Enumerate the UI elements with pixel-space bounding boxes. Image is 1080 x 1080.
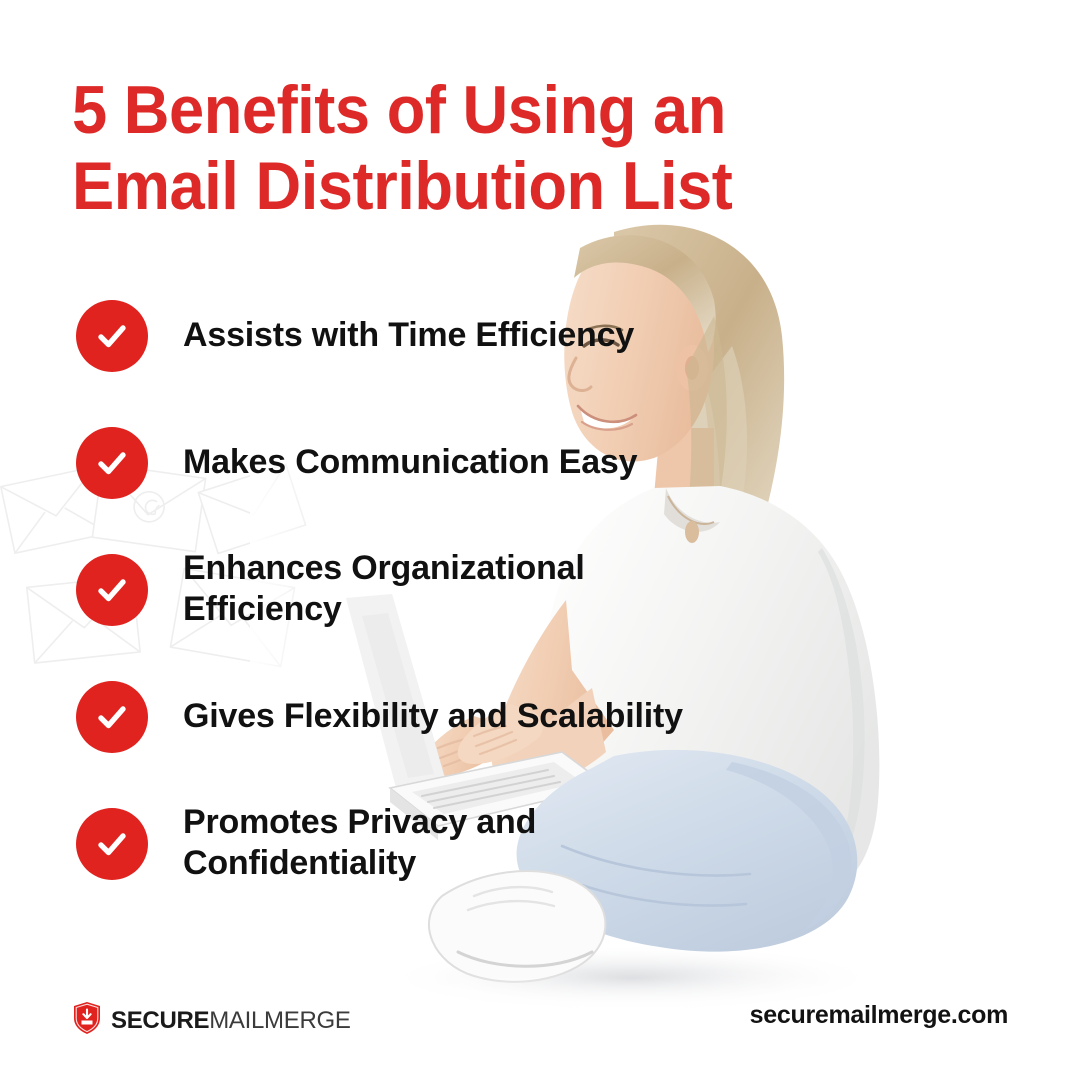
check-circle-icon (76, 808, 148, 880)
promo-graphic: 5 Benefits of Using an Email Distributio… (0, 0, 1080, 1080)
benefits-list: Assists with Time Efficiency Makes Commu… (76, 294, 976, 929)
shield-inbox-icon (72, 1001, 102, 1040)
list-item: Gives Flexibility and Scalability (76, 675, 976, 802)
website-url[interactable]: securemailmerge.com (750, 1003, 1008, 1028)
benefit-label: Assists with Time Efficiency (183, 315, 963, 356)
list-item: Enhances Organizational Efficiency (76, 548, 976, 675)
brand-wordmark: SECUREMAILMERGE (111, 1009, 351, 1033)
list-item: Assists with Time Efficiency (76, 294, 976, 421)
benefit-label: Makes Communication Easy (183, 442, 963, 483)
benefit-label: Enhances Organizational Efficiency (183, 548, 743, 630)
list-item: Promotes Privacy and Confidentiality (76, 802, 976, 929)
wordmark-primary: SECURE (111, 1007, 209, 1034)
check-circle-icon (76, 300, 148, 372)
benefit-label: Promotes Privacy and Confidentiality (183, 802, 653, 884)
list-item: Makes Communication Easy (76, 421, 976, 548)
benefit-label: Gives Flexibility and Scalability (183, 696, 963, 737)
check-circle-icon (76, 427, 148, 499)
brand-logo[interactable]: SECUREMAILMERGE (72, 1001, 351, 1040)
page-title: 5 Benefits of Using an Email Distributio… (72, 72, 937, 224)
check-circle-icon (76, 554, 148, 626)
check-circle-icon (76, 681, 148, 753)
wordmark-secondary: MAILMERGE (209, 1007, 350, 1034)
